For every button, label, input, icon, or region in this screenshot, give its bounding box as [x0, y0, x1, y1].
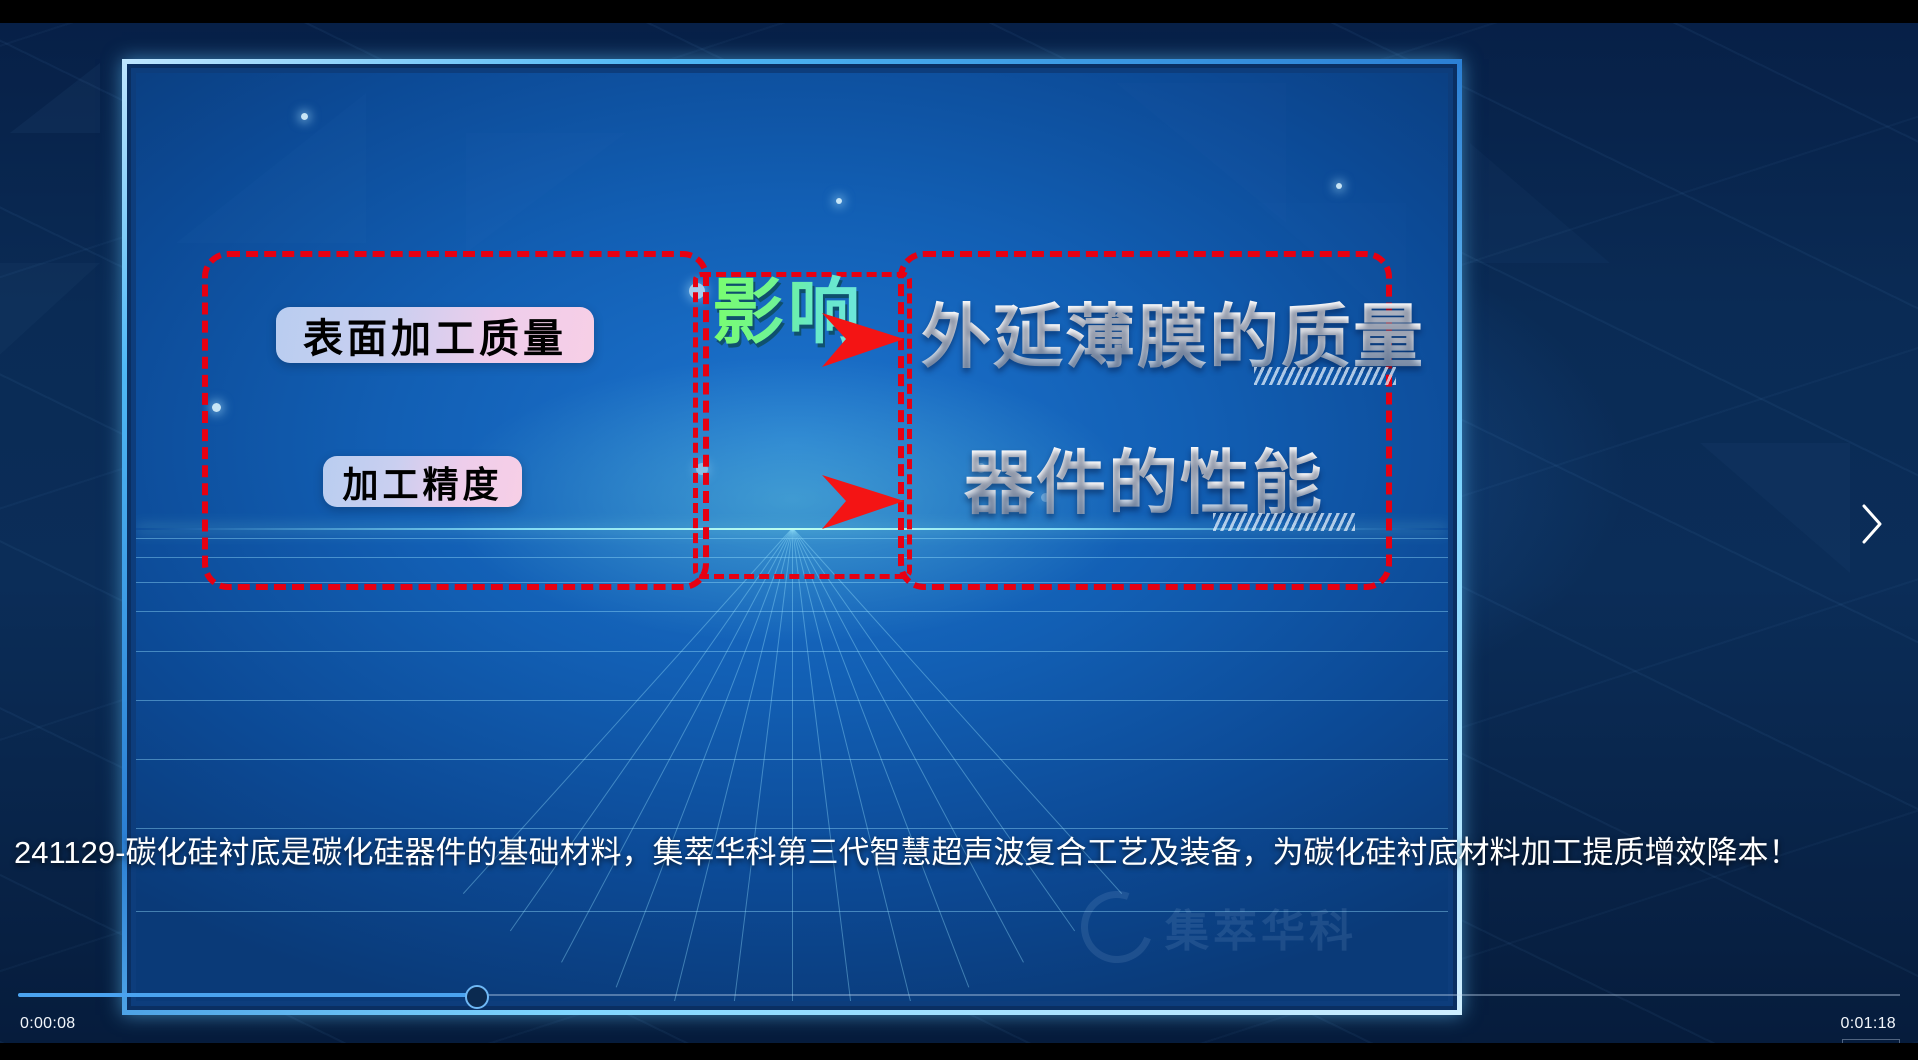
brand-watermark-text: 集萃华科 [1165, 895, 1357, 959]
arrow-bottom [820, 471, 906, 533]
slide-polygon-3 [1116, 83, 1286, 223]
seek-progress [18, 993, 475, 997]
left-item-1-label: 加工精度 [342, 456, 502, 508]
left-item-0-label: 表面加工质量 [303, 306, 567, 364]
sparkle [1336, 183, 1342, 189]
sparkle [836, 198, 842, 204]
right-item-0-label: 外延薄膜的质量 [921, 298, 1425, 376]
right-item-0-underbar [1254, 367, 1396, 385]
slide-polygon-2 [466, 133, 626, 253]
backdrop-polygon-4 [1700, 443, 1850, 573]
arrow-top [820, 309, 906, 371]
left-item-1[interactable]: 加工精度 [323, 456, 522, 507]
next-chevron-icon[interactable] [1850, 493, 1894, 555]
letterbox-bottom [0, 1043, 1918, 1060]
backdrop-polygon-1 [10, 63, 100, 133]
slide-polygon-1 [176, 93, 366, 243]
current-time: 0:00:08 [20, 1015, 75, 1033]
video-player-page: 表面加工质量 加工精度 影响 外延薄膜的质量 [0, 0, 1918, 1060]
video-surface[interactable]: 表面加工质量 加工精度 影响 外延薄膜的质量 [0, 23, 1918, 1043]
seek-thumb[interactable] [465, 985, 489, 1009]
left-group-dashed-box [202, 251, 709, 590]
left-item-0[interactable]: 表面加工质量 [276, 307, 594, 363]
sparkle [301, 113, 308, 120]
right-item-1-underbar [1213, 513, 1355, 531]
letterbox-top [0, 0, 1918, 23]
player-controls: 0:00:08 0:01:18 [0, 953, 1918, 1043]
total-time: 0:01:18 [1841, 1015, 1896, 1033]
right-item-1-label: 器件的性能 [964, 444, 1324, 522]
backdrop-polygon-3 [1470, 143, 1610, 263]
backdrop-polygon-2 [0, 263, 100, 373]
seek-bar[interactable] [18, 985, 1900, 1005]
subtitle-text: 241129-碳化硅衬底是碳化硅器件的基础材料，集萃华科第三代智慧超声波复合工艺… [14, 831, 1894, 875]
